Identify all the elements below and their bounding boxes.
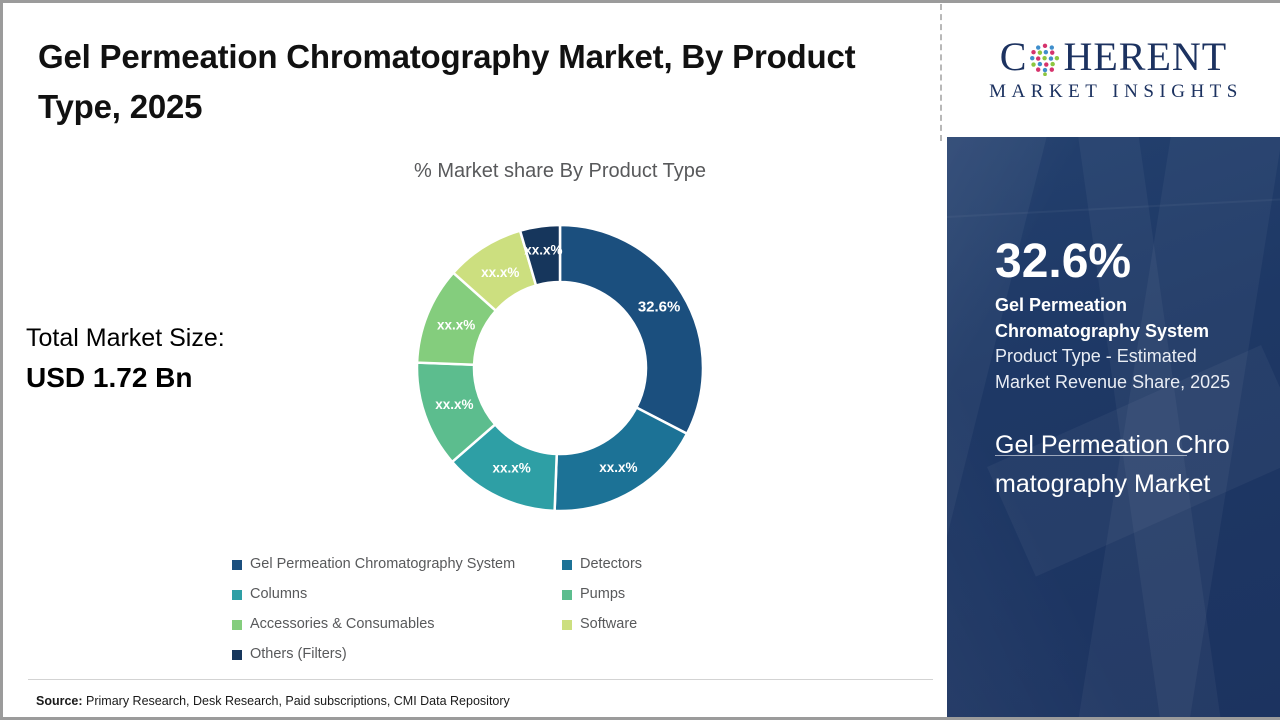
legend-label: Columns	[250, 586, 307, 602]
source-prefix: Source:	[36, 694, 83, 708]
total-market-size-value: USD 1.72 Bn	[26, 362, 193, 394]
highlight-market-name: Gel Permeation Chromatography Market	[995, 426, 1232, 505]
legend-row: Columns Pumps	[232, 586, 702, 616]
legend-label: Accessories & Consumables	[250, 616, 435, 632]
legend-swatch-icon	[562, 560, 572, 570]
logo-letters-herent: HERENT	[1063, 37, 1227, 77]
left-border	[0, 0, 3, 720]
globe-icon	[1028, 42, 1062, 76]
highlight-sidebar: 32.6% Gel Permeation Chromatography Syst…	[947, 137, 1280, 717]
legend-label: Detectors	[580, 556, 642, 572]
sidebar-divider	[995, 455, 1187, 456]
donut-chart-svg: 32.6%xx.x%xx.x%xx.x%xx.x%xx.x%xx.x%	[414, 222, 706, 514]
legend-swatch-icon	[562, 590, 572, 600]
legend-swatch-icon	[562, 620, 572, 630]
highlight-description: Product Type - Estimated Market Revenue …	[995, 344, 1232, 395]
legend-swatch-icon	[232, 590, 242, 600]
chart-legend: Gel Permeation Chromatography System Det…	[232, 556, 702, 676]
legend-label: Software	[580, 616, 637, 632]
donut-slice-label: xx.x%	[524, 243, 562, 258]
page-title: Gel Permeation Chromatography Market, By…	[38, 32, 878, 132]
donut-slice-label: xx.x%	[481, 265, 519, 280]
legend-item-detectors[interactable]: Detectors	[562, 556, 702, 572]
donut-slice-label: xx.x%	[437, 318, 475, 333]
donut-slice[interactable]	[560, 225, 703, 434]
logo-tagline: MARKET INSIGHTS	[984, 81, 1243, 103]
highlight-percentage: 32.6%	[995, 237, 1232, 287]
donut-slice-label: xx.x%	[493, 461, 531, 476]
legend-row: Others (Filters)	[232, 646, 702, 676]
sidebar-content: 32.6% Gel Permeation Chromatography Syst…	[947, 237, 1280, 505]
legend-swatch-icon	[232, 620, 242, 630]
legend-label: Others (Filters)	[250, 646, 347, 662]
logo-letter-c: C	[1000, 37, 1028, 77]
logo-wordmark: C	[1000, 37, 1227, 77]
company-logo: C	[947, 3, 1280, 137]
source-divider	[28, 679, 933, 680]
legend-swatch-icon	[232, 560, 242, 570]
donut-slice-label: 32.6%	[638, 299, 681, 316]
source-note: Source: Primary Research, Desk Research,…	[36, 694, 510, 708]
legend-label: Gel Permeation Chromatography System	[250, 556, 515, 572]
legend-item-pumps[interactable]: Pumps	[562, 586, 702, 602]
legend-row: Gel Permeation Chromatography System Det…	[232, 556, 702, 586]
highlight-segment-name: Gel Permeation Chromatography System	[995, 293, 1232, 344]
legend-swatch-icon	[232, 650, 242, 660]
donut-slice-label: xx.x%	[435, 397, 473, 412]
donut-chart: 32.6%xx.x%xx.x%xx.x%xx.x%xx.x%xx.x%	[414, 222, 706, 514]
legend-item-accessories-consumables[interactable]: Accessories & Consumables	[232, 616, 562, 632]
legend-row: Accessories & Consumables Software	[232, 616, 702, 646]
total-market-size-label: Total Market Size:	[26, 324, 225, 353]
legend-item-software[interactable]: Software	[562, 616, 702, 632]
legend-item-columns[interactable]: Columns	[232, 586, 562, 602]
vertical-dashed-divider	[940, 4, 942, 141]
source-text: Primary Research, Desk Research, Paid su…	[83, 694, 510, 708]
legend-label: Pumps	[580, 586, 625, 602]
legend-item-others-filters[interactable]: Others (Filters)	[232, 646, 562, 662]
donut-slice-label: xx.x%	[599, 460, 637, 475]
chart-subtitle: % Market share By Product Type	[180, 160, 940, 183]
infographic-page: Gel Permeation Chromatography Market, By…	[0, 0, 1280, 720]
legend-item-gel-permeation-chromatography-system[interactable]: Gel Permeation Chromatography System	[232, 556, 562, 572]
